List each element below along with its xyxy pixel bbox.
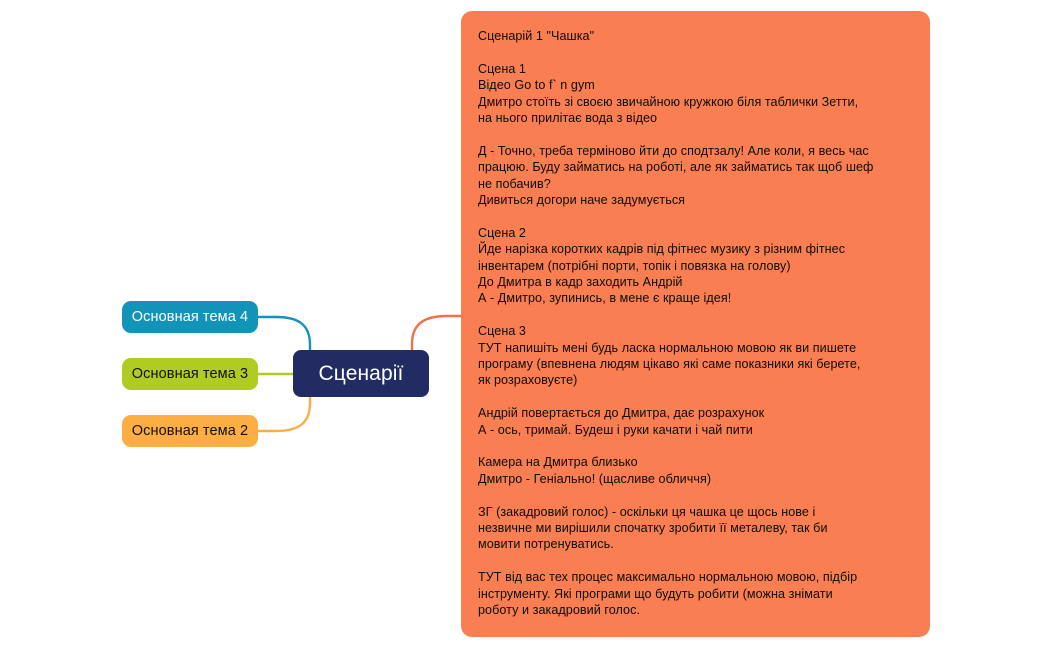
connector-topic-2 [258,397,310,431]
scenario-text-content: Сценарій 1 "Чашка"Сцена 1 Відео Go to f`… [478,28,908,619]
scenario-paragraph: ЗГ (закадровий голос) - оскільки ця чашк… [478,504,908,553]
scenario-text-panel[interactable]: Сценарій 1 "Чашка"Сцена 1 Відео Go to f`… [461,11,930,637]
mindmap-central-node-label: Сценарії [319,362,404,386]
scenario-paragraph: Сцена 1 Відео Go to f` n gym Дмитро стої… [478,61,908,127]
scenario-paragraph: Андрій повертається до Дмитра, дає розра… [478,405,908,438]
connector-scenario-panel [412,316,461,350]
mindmap-canvas: Основная тема 4 Основная тема 3 Основная… [0,0,1050,650]
scenario-paragraph: ТУТ від вас тех процес максимально норма… [478,569,908,618]
scenario-paragraph: Сценарій 1 "Чашка" [478,28,908,44]
scenario-paragraph: Камера на Дмитра близько Дмитро - Геніал… [478,454,908,487]
mindmap-node-topic-3[interactable]: Основная тема 3 [122,358,258,390]
mindmap-node-topic-2-label: Основная тема 2 [132,423,248,439]
scenario-paragraph: Сцена 2 Йде нарізка коротких кадрів під … [478,225,908,307]
mindmap-central-node[interactable]: Сценарії [293,350,429,397]
mindmap-node-topic-4-label: Основная тема 4 [132,309,248,325]
mindmap-node-topic-3-label: Основная тема 3 [132,366,248,382]
mindmap-node-topic-2[interactable]: Основная тема 2 [122,415,258,447]
scenario-paragraph: Д - Точно, треба терміново йти до сподтз… [478,143,908,209]
connector-topic-4 [258,317,310,350]
scenario-paragraph: Сцена 3 ТУТ напишіть мені будь ласка нор… [478,323,908,389]
mindmap-node-topic-4[interactable]: Основная тема 4 [122,301,258,333]
